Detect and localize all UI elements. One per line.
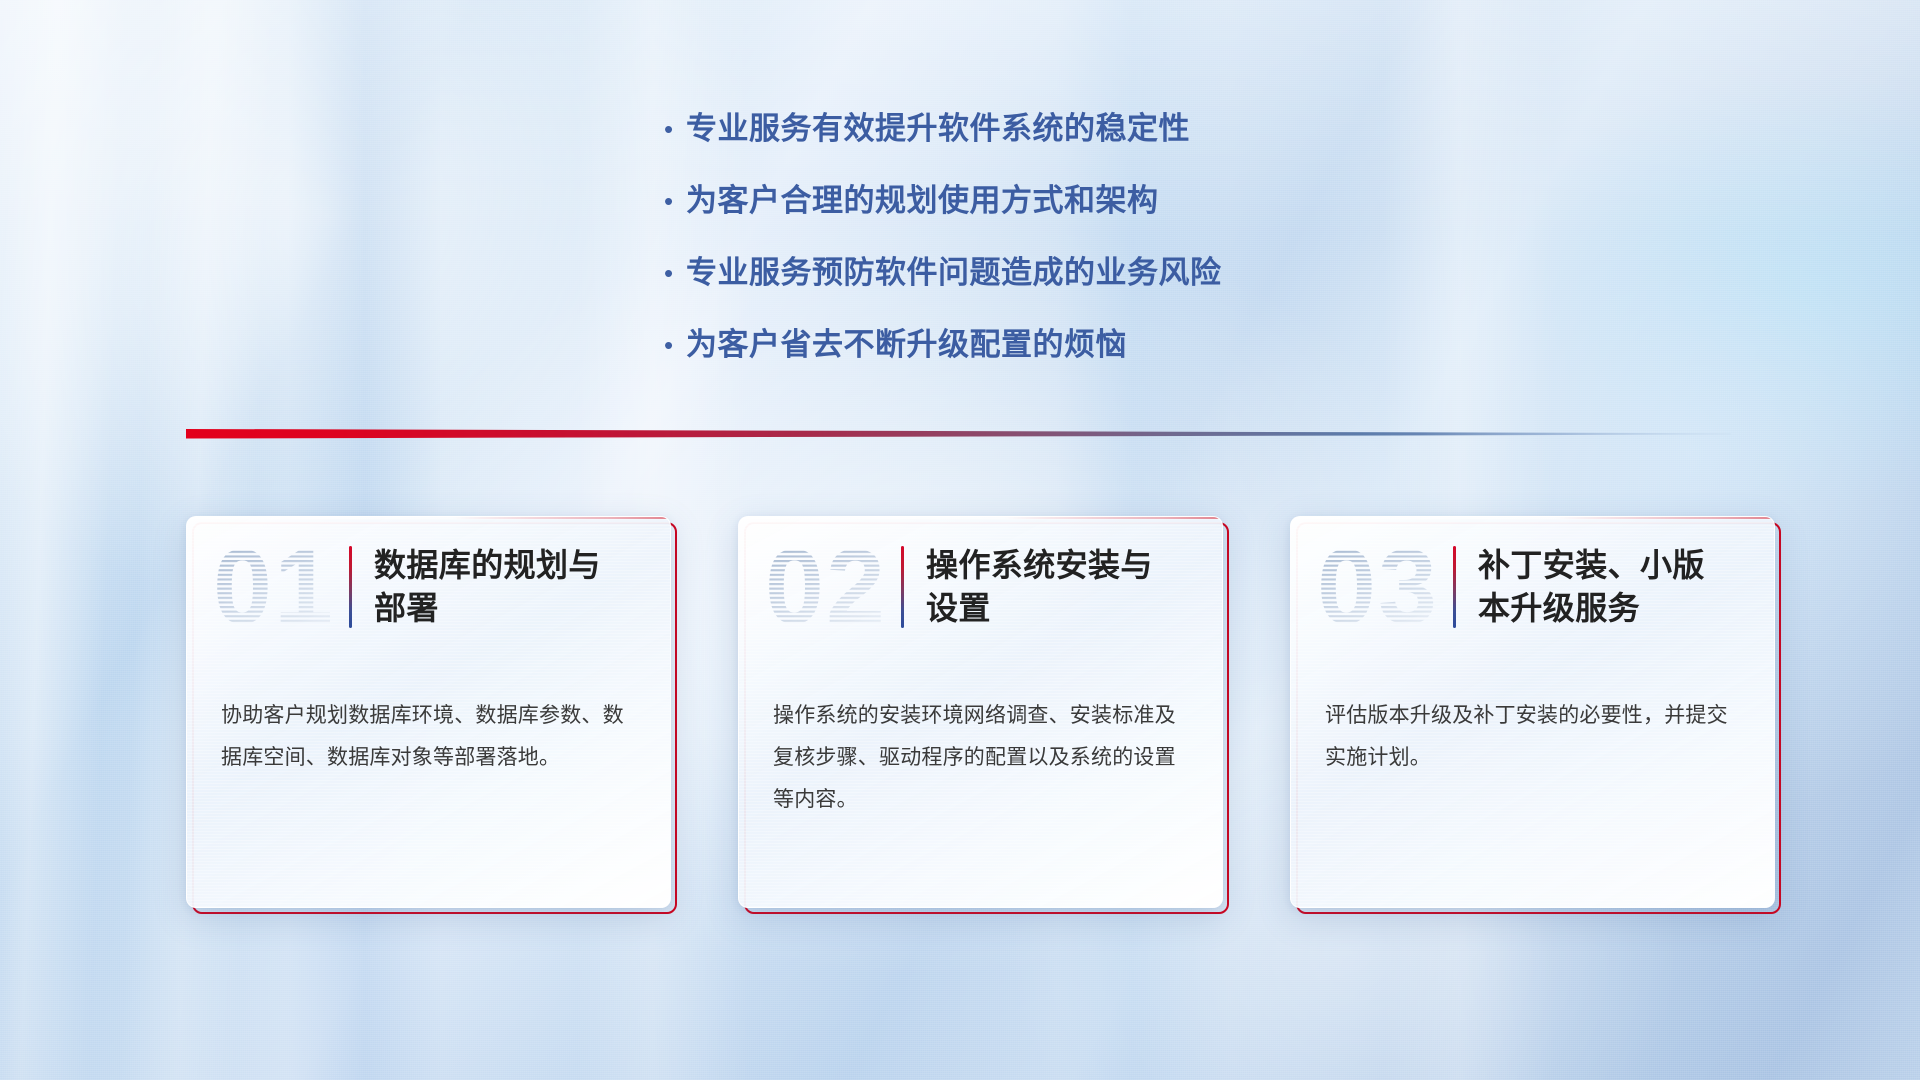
- card-title-accent-rule: [349, 546, 352, 628]
- list-item: • 专业服务预防软件问题造成的业务风险: [660, 252, 1420, 294]
- ghost-number-glyph: 03: [1317, 537, 1445, 641]
- section-divider: [186, 428, 1731, 442]
- ghost-number-01-icon: 01: [213, 537, 341, 641]
- svg-text:01: 01: [213, 537, 335, 641]
- service-card[interactable]: 03 补丁安装、小版本升级服务 评估版本升级及补丁安装的必要性，并提交实施计划。: [1290, 516, 1775, 908]
- list-item: • 专业服务有效提升软件系统的稳定性: [660, 108, 1420, 150]
- card-title-accent-rule: [1453, 546, 1456, 628]
- card-header: 03 补丁安装、小版本升级服务: [1291, 517, 1774, 657]
- bullet-text: 专业服务预防软件问题造成的业务风险: [686, 252, 1222, 294]
- ghost-number-glyph: 01: [213, 537, 341, 641]
- card-body-text: 评估版本升级及补丁安装的必要性，并提交实施计划。: [1291, 657, 1774, 779]
- benefits-bullet-list: • 专业服务有效提升软件系统的稳定性 • 为客户合理的规划使用方式和架构 • 专…: [660, 108, 1420, 396]
- divider-shape-icon: [186, 428, 1731, 442]
- list-item: • 为客户省去不断升级配置的烦恼: [660, 324, 1420, 366]
- bullet-dot-icon: •: [660, 252, 686, 294]
- service-card[interactable]: 02 操作系统安装与设置 操作系统的安装环境网络调查、安装标准及复核步骤、驱动程…: [738, 516, 1223, 908]
- bullet-dot-icon: •: [660, 108, 686, 150]
- bullet-dot-icon: •: [660, 180, 686, 222]
- card-title: 数据库的规划与部署: [374, 544, 624, 630]
- card-surface[interactable]: 02 操作系统安装与设置 操作系统的安装环境网络调查、安装标准及复核步骤、驱动程…: [738, 516, 1223, 908]
- ghost-number-02-icon: 02: [765, 537, 893, 641]
- bullet-text: 专业服务有效提升软件系统的稳定性: [686, 108, 1190, 150]
- list-item: • 为客户合理的规划使用方式和架构: [660, 180, 1420, 222]
- card-surface[interactable]: 03 补丁安装、小版本升级服务 评估版本升级及补丁安装的必要性，并提交实施计划。: [1290, 516, 1775, 908]
- card-body-text: 操作系统的安装环境网络调查、安装标准及复核步骤、驱动程序的配置以及系统的设置等内…: [739, 657, 1222, 821]
- svg-text:02: 02: [765, 537, 887, 641]
- svg-text:03: 03: [1317, 537, 1439, 641]
- bullet-text: 为客户合理的规划使用方式和架构: [686, 180, 1159, 222]
- card-title: 补丁安装、小版本升级服务: [1478, 544, 1728, 630]
- card-title-accent-rule: [901, 546, 904, 628]
- card-header: 01 数据库的规划与部署: [187, 517, 670, 657]
- ghost-number-glyph: 02: [765, 537, 893, 641]
- bullet-dot-icon: •: [660, 324, 686, 366]
- card-surface[interactable]: 01 数据库的规划与部署 协助客户规划数据库环境、数据库参数、数据库空间、数据库…: [186, 516, 671, 908]
- bullet-text: 为客户省去不断升级配置的烦恼: [686, 324, 1127, 366]
- service-card[interactable]: 01 数据库的规划与部署 协助客户规划数据库环境、数据库参数、数据库空间、数据库…: [186, 516, 671, 908]
- card-header: 02 操作系统安装与设置: [739, 517, 1222, 657]
- ghost-number-03-icon: 03: [1317, 537, 1445, 641]
- card-title: 操作系统安装与设置: [926, 544, 1176, 630]
- service-cards-row: 01 数据库的规划与部署 协助客户规划数据库环境、数据库参数、数据库空间、数据库…: [0, 516, 1920, 928]
- card-body-text: 协助客户规划数据库环境、数据库参数、数据库空间、数据库对象等部署落地。: [187, 657, 670, 779]
